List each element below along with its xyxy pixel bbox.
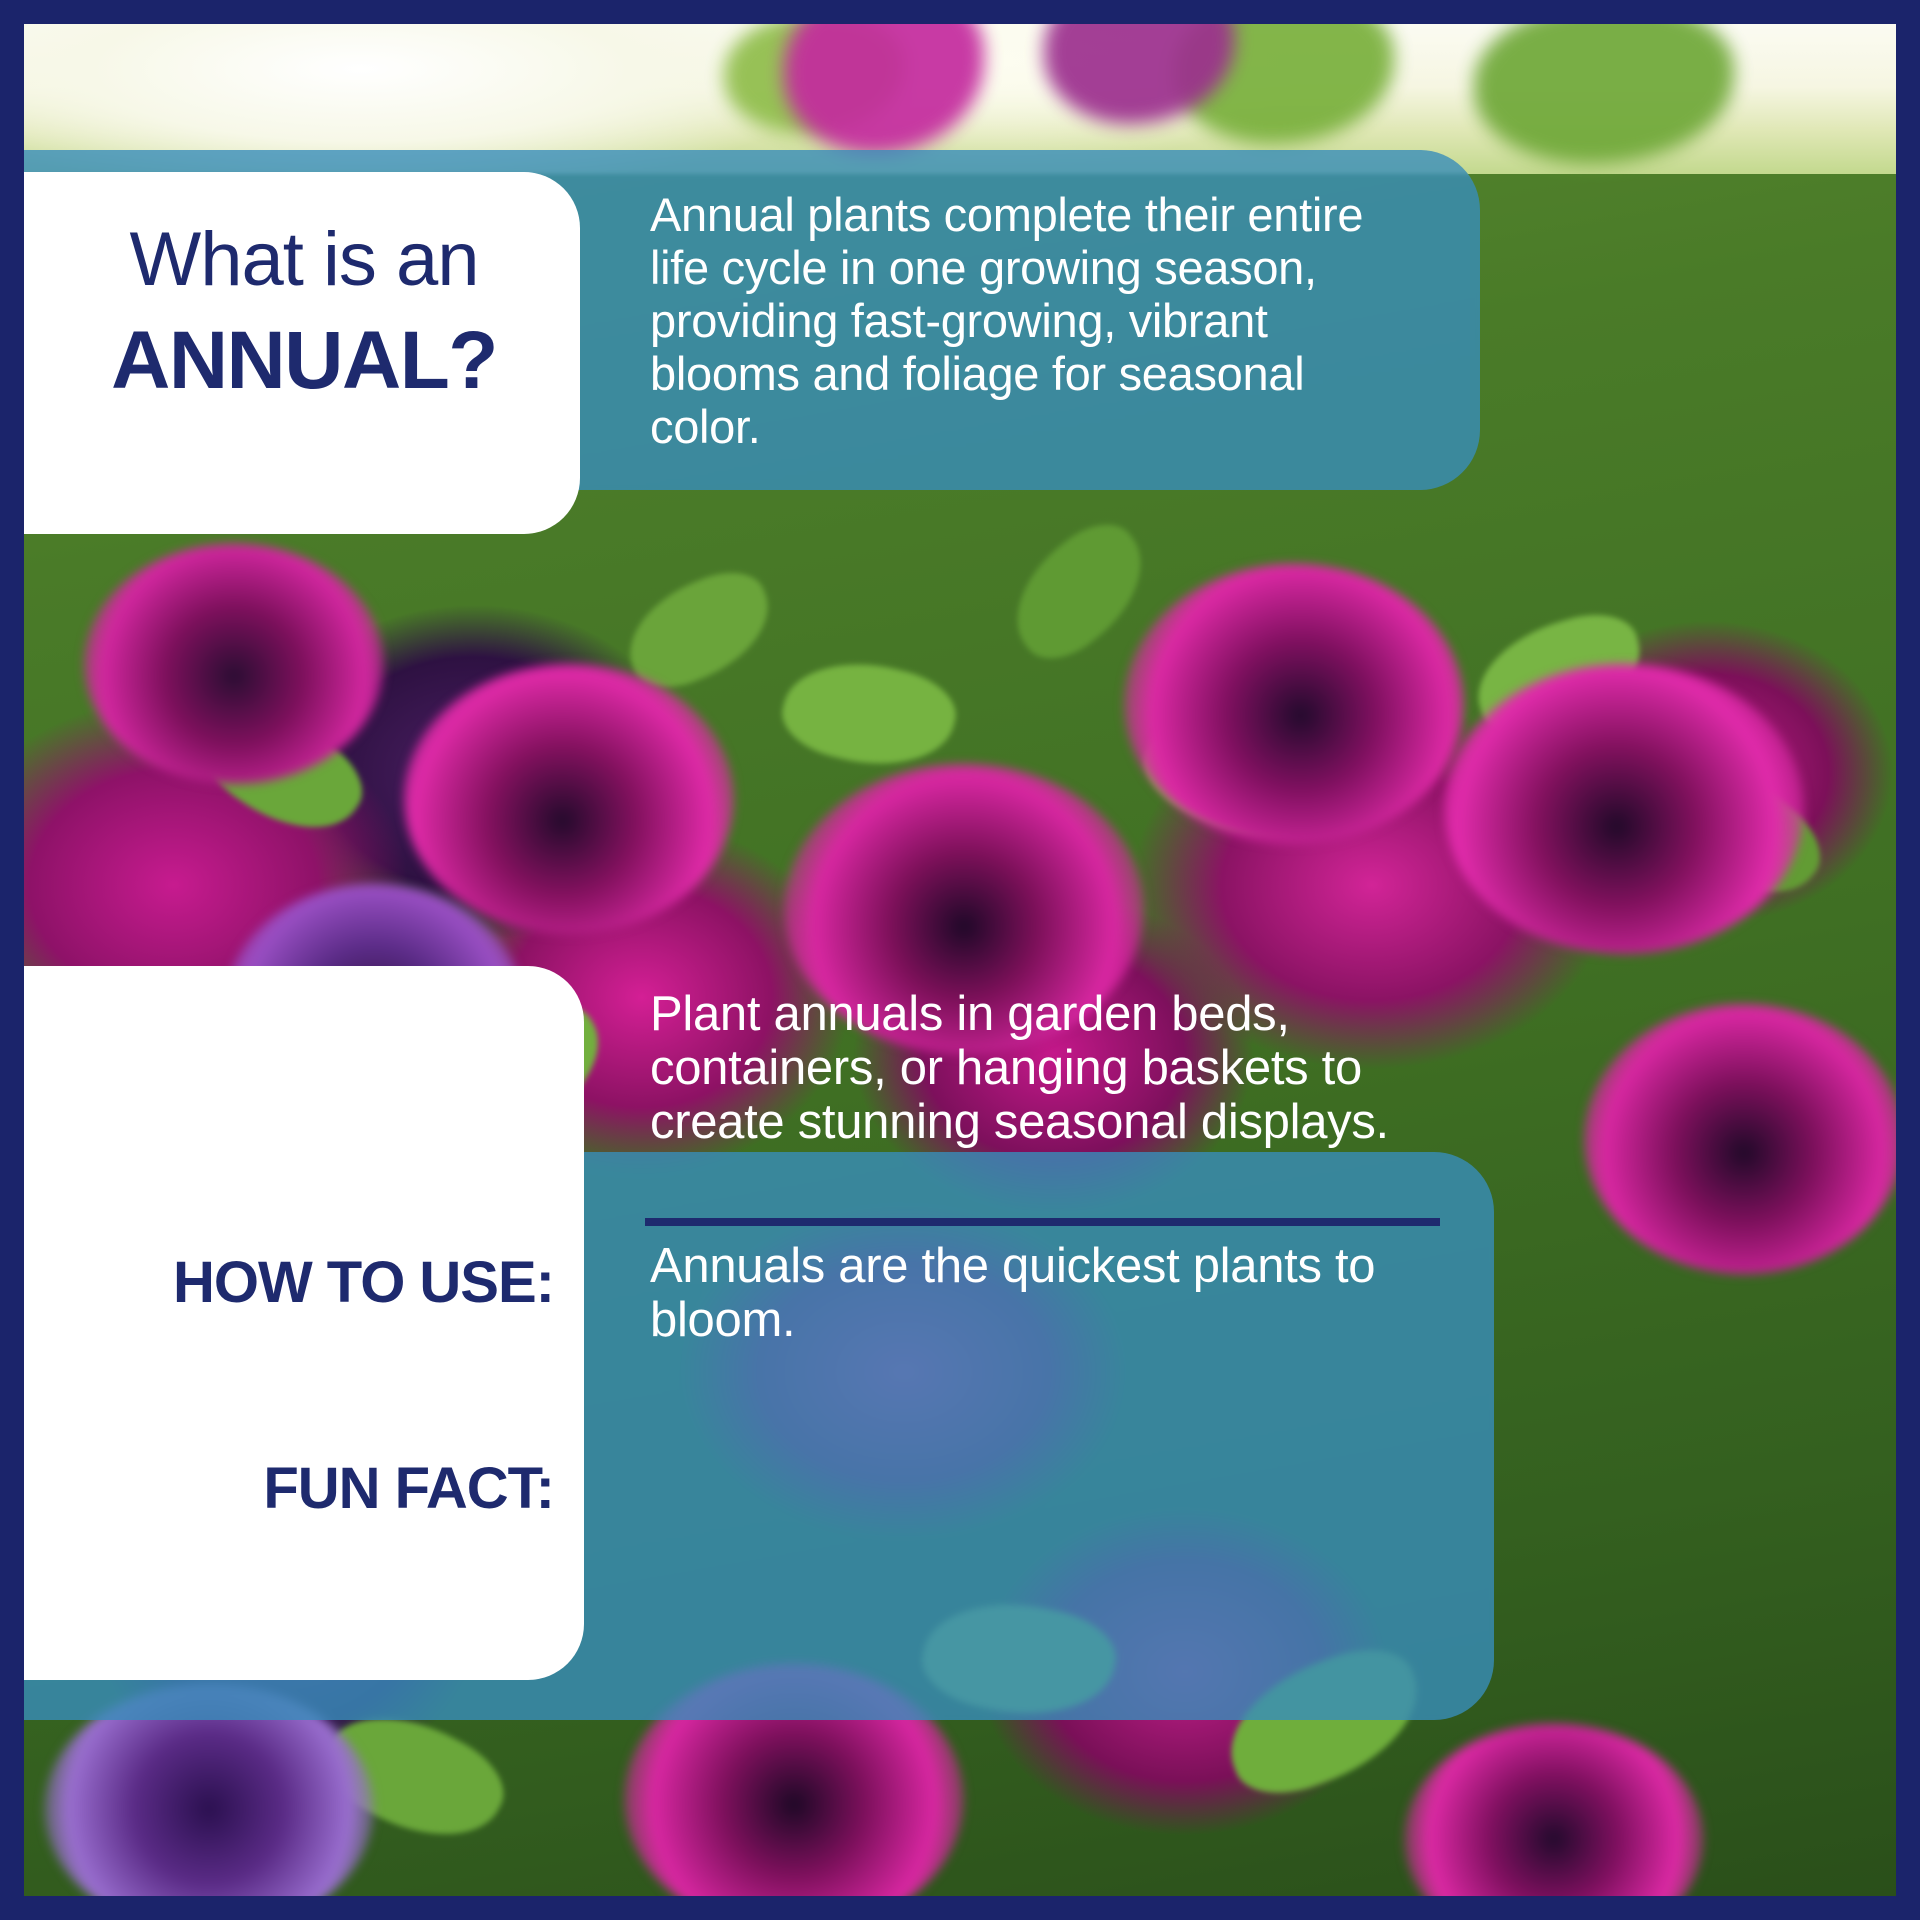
labels-card [24,966,584,1680]
page-title-line-1: What is an [44,222,564,298]
infographic-canvas: What is an ANNUAL? Annual plants complet… [0,0,1920,1920]
definition-text: Annual plants complete their entire life… [650,188,1410,454]
page-title-line-2: ANNUAL? [44,320,564,402]
fun-fact-label: FUN FACT: [24,1460,554,1518]
how-to-use-text: Plant annuals in garden beds, containers… [650,988,1450,1150]
petunia-bloom [84,544,384,784]
petunia-bloom [1124,564,1464,844]
blurred-flower [784,24,984,154]
petunia-bloom [404,664,734,934]
fun-fact-text: Annuals are the quickest plants to bloom… [650,1240,1410,1348]
blurred-leaf [1474,24,1734,164]
how-to-use-label: HOW TO USE: [24,1254,554,1312]
petunia-bloom [1584,1004,1896,1274]
section-divider [645,1218,1440,1226]
petunia-bloom [1444,664,1804,954]
